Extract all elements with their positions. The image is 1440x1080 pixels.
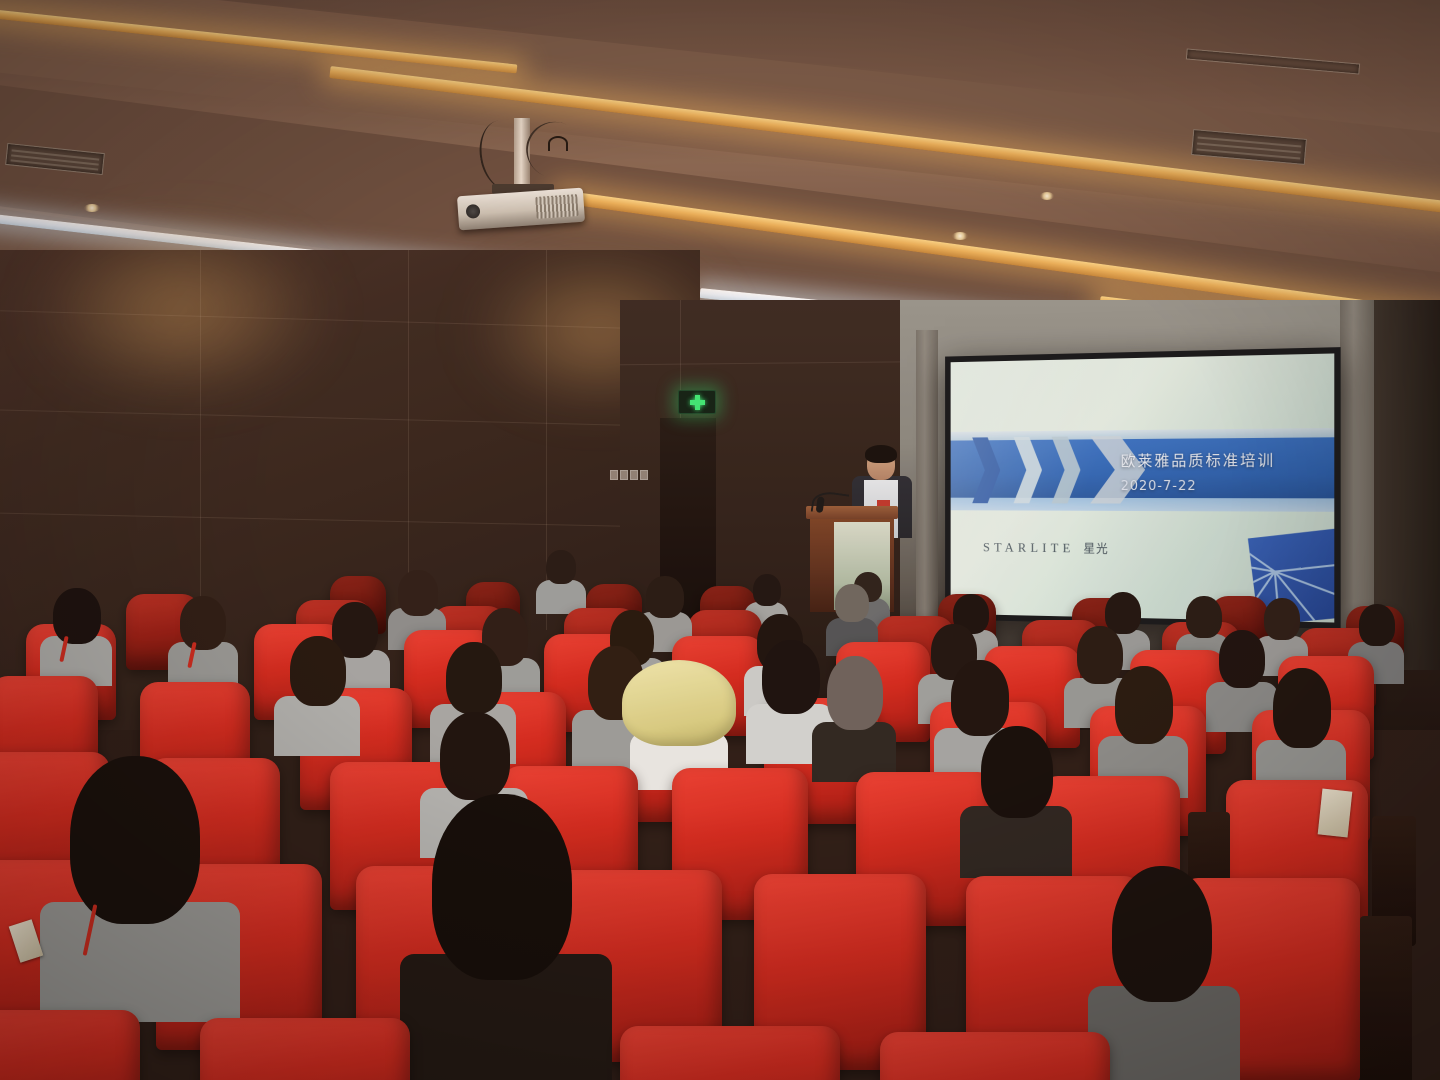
- attendee: [536, 550, 586, 608]
- attendee: [400, 794, 612, 1080]
- light-switch-plate[interactable]: [610, 470, 648, 480]
- attendee: [1256, 668, 1346, 792]
- attendee: [40, 588, 112, 680]
- seat: [620, 1026, 840, 1080]
- ceiling-hook: [548, 136, 568, 151]
- exit-sign-icon: [678, 390, 716, 414]
- downlight: [952, 232, 968, 240]
- attendee: [40, 756, 240, 1016]
- ceiling-projector: [452, 118, 592, 234]
- attendee: [274, 636, 360, 748]
- attendee: [812, 656, 896, 774]
- slide-title: 欧莱雅品质标准培训: [1121, 449, 1275, 471]
- projector-lens-icon: [466, 204, 481, 219]
- handout-paper: [1318, 789, 1353, 838]
- presenter-hair: [865, 445, 897, 463]
- seat: [0, 1010, 140, 1080]
- audience-seating: [0, 540, 1440, 1080]
- attendee: [1098, 666, 1188, 788]
- attendee: [1088, 866, 1240, 1080]
- armrest: [1360, 916, 1412, 1080]
- attendee: [960, 726, 1072, 868]
- hair-cap: [622, 660, 736, 746]
- seat: [200, 1018, 410, 1080]
- attendee-with-cap: [622, 660, 736, 782]
- downlight: [84, 204, 100, 212]
- wall-wash-light: [30, 220, 330, 400]
- projector-body: [457, 188, 585, 231]
- projector-vent-grille: [535, 194, 578, 219]
- downlight: [1040, 192, 1054, 200]
- seat: [880, 1032, 1110, 1080]
- attendee: [168, 596, 238, 686]
- slide-date: 2020-7-22: [1121, 479, 1197, 494]
- auditorium-photo: 欧莱雅品质标准培训 2020-7-22 STARLITE 星光: [0, 0, 1440, 1080]
- air-vent: [1186, 48, 1360, 74]
